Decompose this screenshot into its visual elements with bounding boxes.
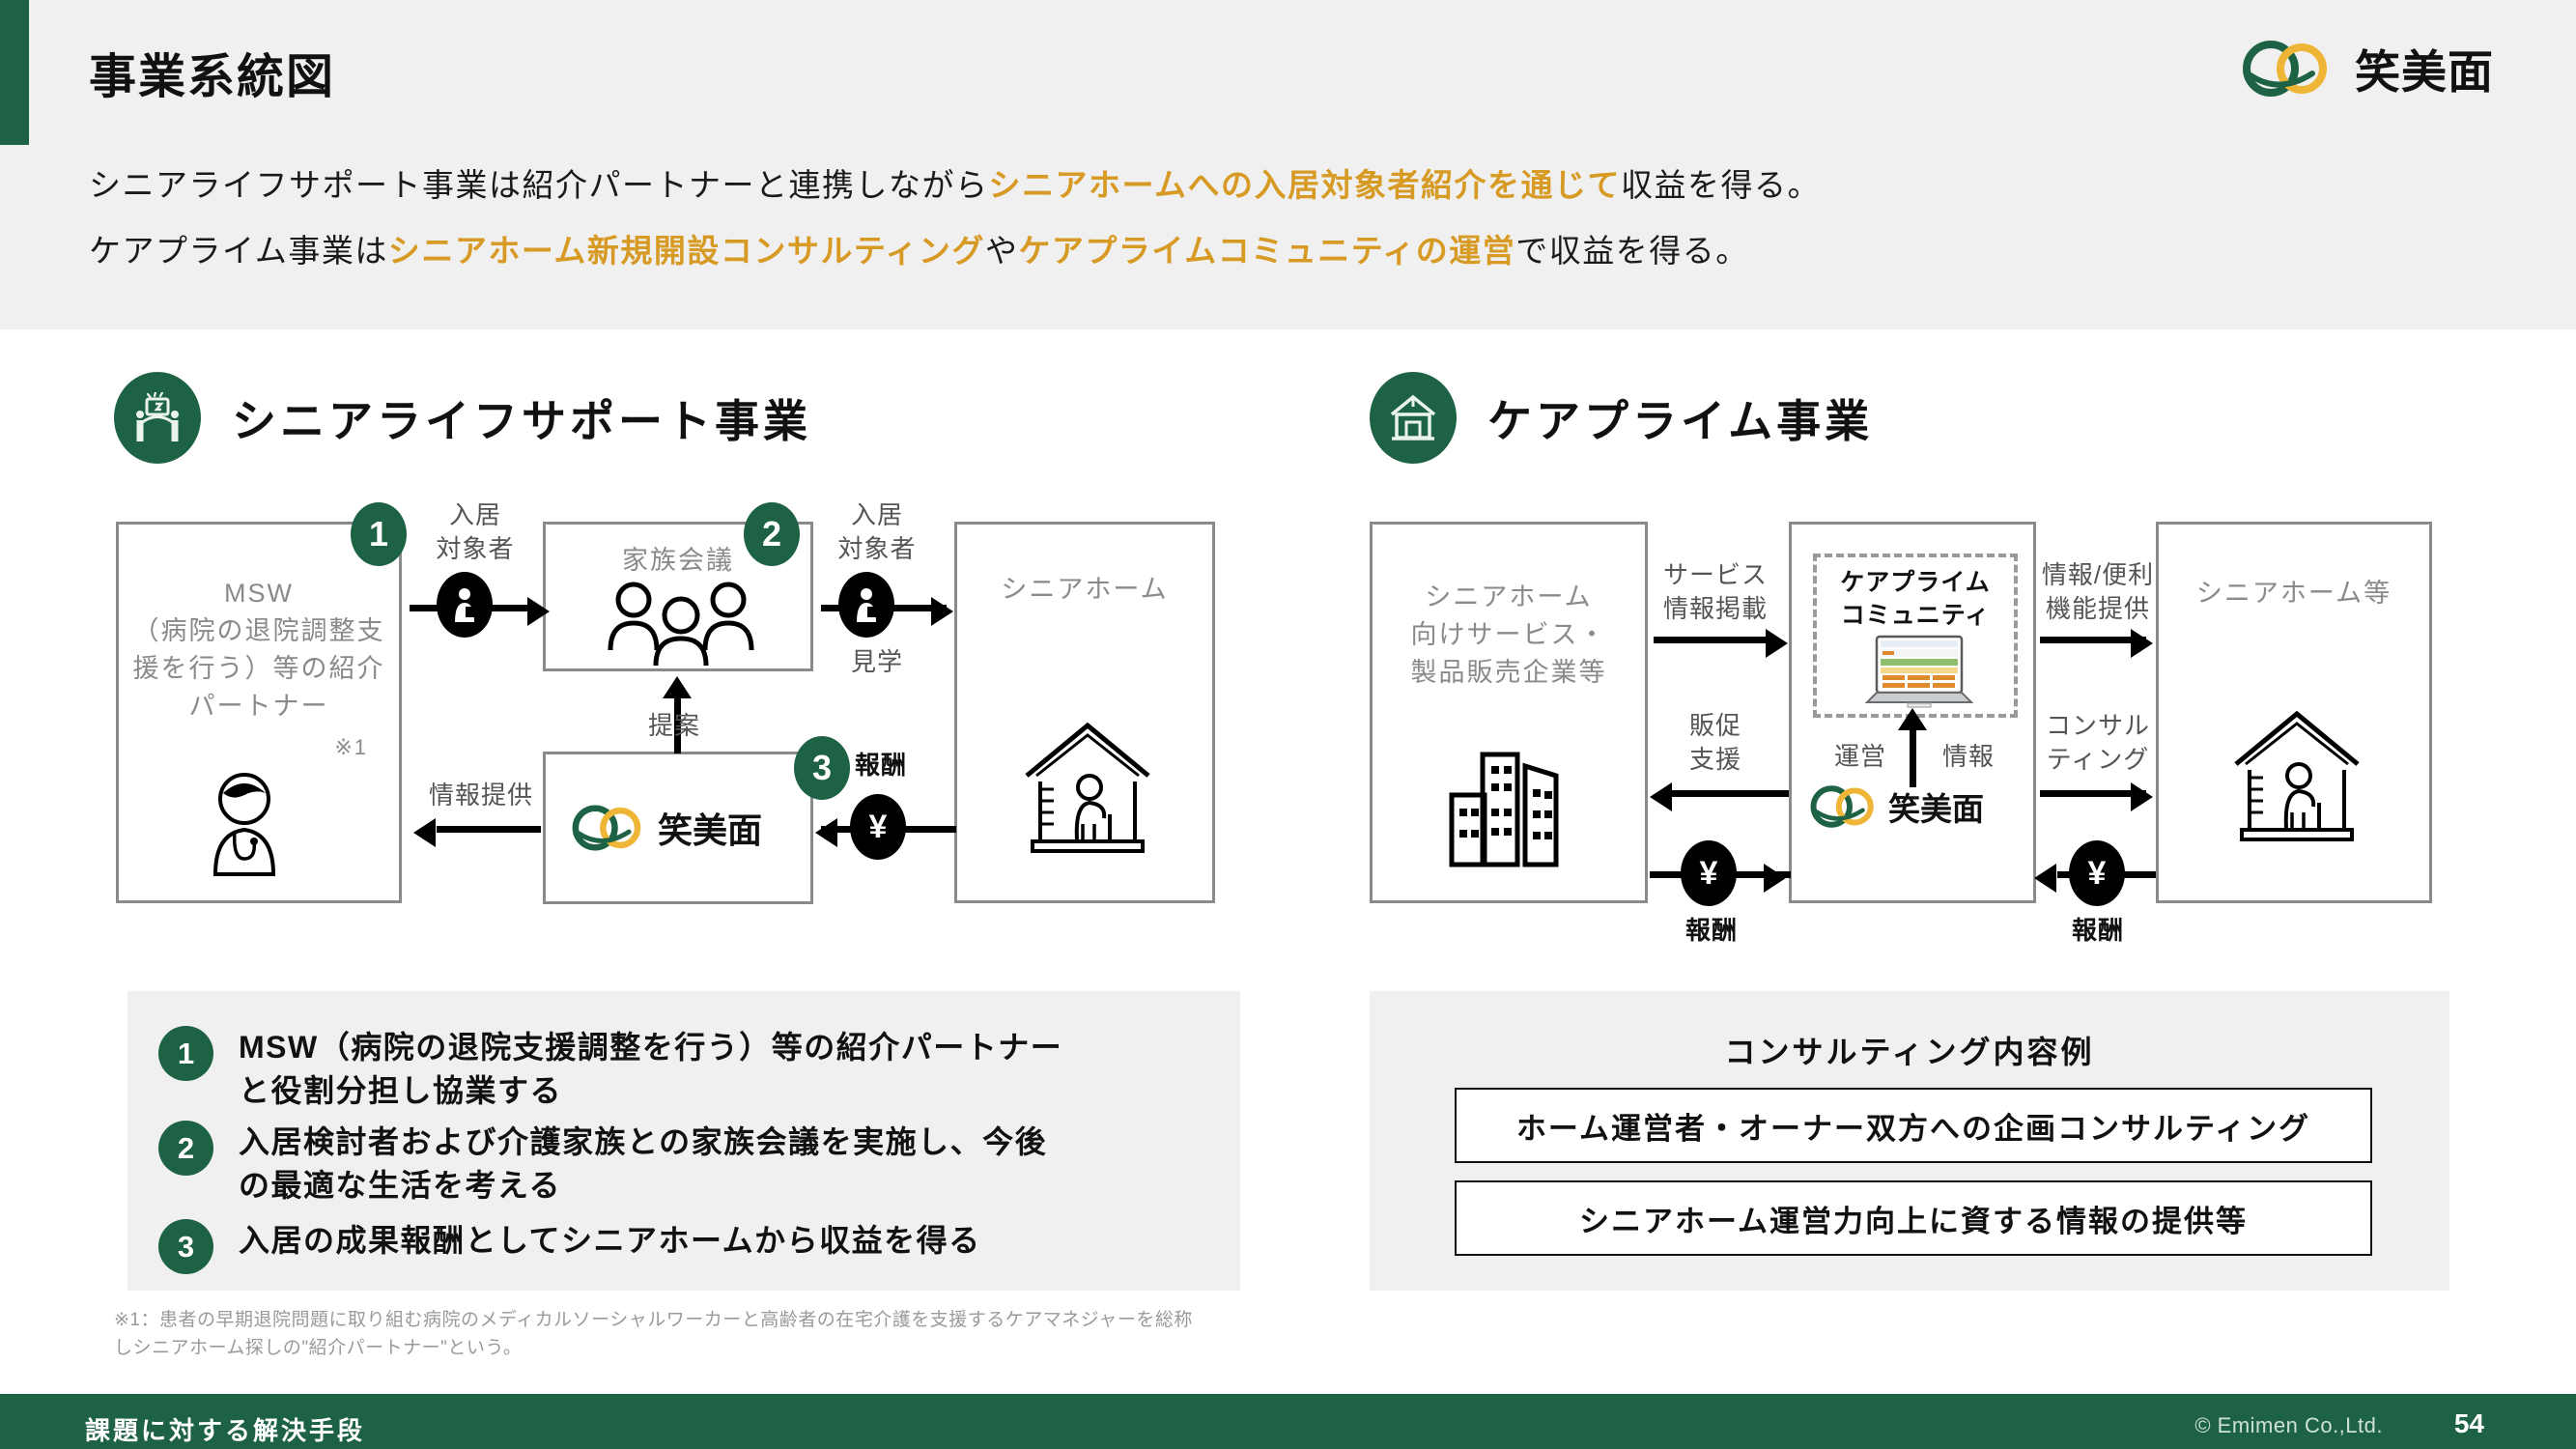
arrowhead-right xyxy=(1764,864,1786,893)
diagram-box-senior-home-left-label: シニアホーム xyxy=(957,571,1212,609)
summary-item-1: 1 MSW（病院の退院支援調整を行う）等の紹介パートナー と役割分担し協業する xyxy=(158,1026,1202,1114)
arrowhead-up xyxy=(1898,708,1927,730)
yen-glyph-home: ¥ xyxy=(2069,840,2125,906)
yen-symbol: ¥ xyxy=(869,810,888,843)
arrowhead-right xyxy=(1766,629,1788,658)
page-title: 事業系統図 xyxy=(89,39,335,107)
arrow-emimen-to-msw xyxy=(437,826,541,833)
elderly-home-icon xyxy=(2226,706,2367,851)
arrow-label-tour: 見学 xyxy=(809,645,945,679)
summary-item-3: 3 入居の成果報酬としてシニアホームから収益を得る xyxy=(158,1219,1202,1274)
summary-item-1-number: 1 xyxy=(158,1026,213,1081)
footer-page-number: 54 xyxy=(2454,1408,2484,1439)
summary-item-2: 2 入居検討者および介護家族との家族会議を実施し、今後 の最適な生活を考える xyxy=(158,1121,1202,1208)
emimen-wordmark-right: 笑美面 xyxy=(1888,783,1984,830)
arrow-label-info-left: 情報提供 xyxy=(394,779,568,812)
lede-1-plain-b: 収益を得る。 xyxy=(1621,167,1821,203)
brand-name: 笑美面 xyxy=(2355,35,2494,101)
left-summary-panel: 1 MSW（病院の退院支援調整を行う）等の紹介パートナー と役割分担し協業する … xyxy=(127,991,1240,1291)
diagram-box-msw: MSW （病院の退院調整支 援を行う）等の紹介 パートナー ※1 xyxy=(116,522,402,903)
arrowhead-up xyxy=(663,676,692,698)
arrow-label-fee-home: 報酬 xyxy=(2040,914,2156,948)
laptop-icon xyxy=(1861,633,1977,714)
emimen-mark-icon xyxy=(2241,39,2334,99)
lede-1-highlight: シニアホームへの入居対象者紹介を通じて xyxy=(989,167,1622,203)
diagram-box-vendor: シニアホーム 向けサービス・ 製品販売企業等 xyxy=(1370,522,1648,903)
emimen-mark-icon xyxy=(1809,783,1879,830)
yen-symbol: ¥ xyxy=(2088,857,2107,890)
lede-line-2: ケアプライム事業はシニアホーム新規開設コンサルティングやケアプライムコミュニティ… xyxy=(89,235,2455,267)
arrow-label-resident-1: 入居 対象者 xyxy=(408,498,543,566)
diagram-box-vendor-label: シニアホーム 向けサービス・ 製品販売企業等 xyxy=(1373,579,1645,692)
right-section-header: ケアプライム事業 xyxy=(1370,372,1873,464)
summary-item-2-number: 2 xyxy=(158,1121,213,1176)
arrowhead-right xyxy=(527,597,550,626)
diagram-marker-2: 2 xyxy=(744,502,800,566)
diagram-box-senior-home-right: シニアホーム等 xyxy=(2156,522,2432,903)
right-summary-panel: コンサルティング内容例 ホーム運営者・オーナー双方への企画コンサルティング シニ… xyxy=(1370,991,2449,1291)
lede-line-1: シニアライフサポート事業は紹介パートナーと連携しながらシニアホームへの入居対象者… xyxy=(89,169,2455,201)
summary-item-3-text: 入居の成果報酬としてシニアホームから収益を得る xyxy=(239,1219,981,1263)
arrowhead-right xyxy=(2131,629,2153,658)
footnote-text: ※1：患者の早期退院問題に取り組む病院のメディカルソーシャルワーカーと高齢者の在… xyxy=(114,1306,1273,1363)
home-building-icon xyxy=(1370,372,1457,464)
lede-2-highlight-b: ケアプライムコミュニティの運営 xyxy=(1018,233,1515,269)
careprime-community-label: ケアプライム コミュニティ xyxy=(1817,567,2014,633)
footer-title: 課題に対する解決手段 xyxy=(85,1411,365,1447)
diagram-box-senior-home-left: シニアホーム xyxy=(954,522,1215,903)
arrow-label-proposal: 提案 xyxy=(607,709,742,743)
lede-2-plain-c: で収益を得る。 xyxy=(1515,233,1749,269)
emimen-logo-right: 笑美面 xyxy=(1809,783,1984,830)
lede-2-plain-b: や xyxy=(985,233,1019,269)
emimen-wordmark-left: 笑美面 xyxy=(658,803,762,853)
lede-1-plain-a: シニアライフサポート事業は紹介パートナーと連携しながら xyxy=(89,167,989,203)
accent-bar xyxy=(0,0,29,145)
resident-person-glyph-1 xyxy=(437,572,493,638)
diagram-marker-3: 3 xyxy=(794,736,850,800)
emimen-mark-icon xyxy=(571,803,646,853)
yen-glyph-left: ¥ xyxy=(850,794,906,860)
arrow-vendor-to-community xyxy=(1654,637,1771,643)
people-dialogue-icon xyxy=(114,372,201,464)
arrow-label-promo: 販促 支援 xyxy=(1648,709,1783,777)
doctor-icon xyxy=(186,766,302,880)
arrowhead-left xyxy=(413,818,436,847)
diagram-box-msw-label: MSW （病院の退院調整支 援を行う）等の紹介 パートナー xyxy=(119,575,399,726)
diagram-box-senior-home-right-label: シニアホーム等 xyxy=(2159,575,2429,612)
arrow-label-info-right: 情報 xyxy=(1920,740,2017,774)
resident-person-glyph-2 xyxy=(838,572,894,638)
arrowhead-left xyxy=(1650,782,1672,811)
lede-paragraph: シニアライフサポート事業は紹介パートナーと連携しながらシニアホームへの入居対象者… xyxy=(89,169,2455,300)
summary-item-2-text: 入居検討者および介護家族との家族会議を実施し、今後 の最適な生活を考える xyxy=(239,1121,1047,1208)
arrowhead-left xyxy=(2034,864,2056,893)
slide-root: 事業系統図 笑美面 シニアライフサポート事業は紹介パートナーと連携しながらシニア… xyxy=(0,0,2576,1449)
left-section-title: シニアライフサポート事業 xyxy=(232,386,811,450)
buildings-icon xyxy=(1442,749,1568,870)
arrow-label-features: 情報/便利 機能提供 xyxy=(2030,558,2166,626)
arrowhead-right xyxy=(931,597,953,626)
arrowhead-right xyxy=(2131,782,2153,811)
careprime-community-dashed-box: ケアプライム コミュニティ xyxy=(1813,554,2018,718)
arrow-label-fee-vendor: 報酬 xyxy=(1654,914,1769,948)
left-section-header: シニアライフサポート事業 xyxy=(114,372,811,464)
lede-2-plain-a: ケアプライム事業は xyxy=(89,233,388,269)
family-group-icon xyxy=(599,581,763,666)
summary-item-3-number: 3 xyxy=(158,1219,213,1274)
footer-bar xyxy=(0,1394,2576,1449)
arrow-label-consulting: コンサル ティング xyxy=(2030,709,2166,777)
consulting-example-1: ホーム運営者・オーナー双方への企画コンサルティング xyxy=(1455,1088,2372,1163)
emimen-logo-left: 笑美面 xyxy=(571,803,762,853)
consulting-example-2: シニアホーム運営力向上に資する情報の提供等 xyxy=(1455,1180,2372,1256)
summary-item-1-text: MSW（病院の退院支援調整を行う）等の紹介パートナー と役割分担し協業する xyxy=(239,1026,1062,1114)
footer-copyright: © Emimen Co.,Ltd. xyxy=(2194,1413,2383,1438)
brand-logo: 笑美面 xyxy=(2241,35,2494,101)
arrow-label-resident-2: 入居 対象者 xyxy=(809,498,945,566)
yen-glyph-vendor: ¥ xyxy=(1681,840,1737,906)
arrow-label-service-post: サービス 情報掲載 xyxy=(1648,558,1783,626)
lede-2-highlight-a: シニアホーム新規開設コンサルティング xyxy=(388,233,985,269)
diagram-marker-1: 1 xyxy=(351,502,407,566)
arrow-community-to-vendor xyxy=(1671,790,1789,797)
right-section-title: ケアプライム事業 xyxy=(1487,386,1873,450)
arrow-label-operate: 運営 xyxy=(1812,740,1909,774)
elderly-home-icon xyxy=(1017,718,1158,863)
yen-symbol: ¥ xyxy=(1700,857,1718,890)
arrowhead-left xyxy=(815,818,837,847)
diagram-box-msw-note: ※1 xyxy=(119,732,399,763)
diagram-box-emimen-left: 笑美面 xyxy=(543,752,813,904)
arrow-emimen-to-community xyxy=(1910,729,1916,787)
right-panel-title: コンサルティング内容例 xyxy=(1370,1028,2449,1072)
